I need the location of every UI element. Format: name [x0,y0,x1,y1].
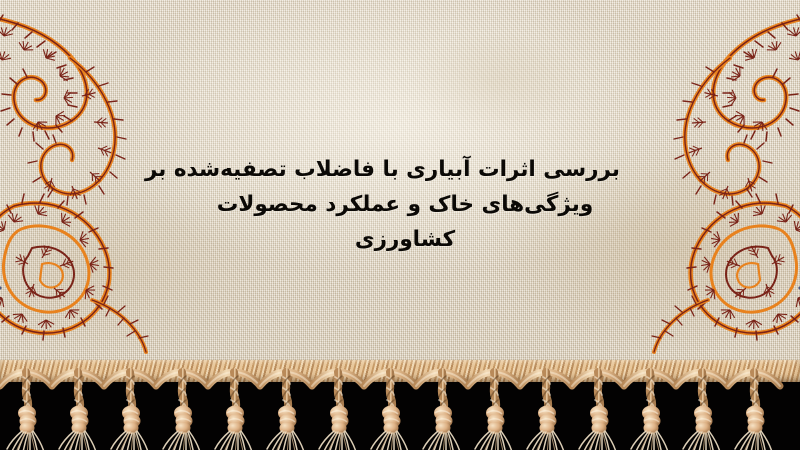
knotted-tassel-fringe [0,368,800,450]
slide-title: بررسی اثرات آبیاری با فاضلاب تصفیه‌شده ب… [190,152,620,257]
title-slide: بررسی اثرات آبیاری با فاضلاب تصفیه‌شده ب… [0,0,800,450]
title-line-2: ویژگی‌های خاک و عملکرد محصولات [190,187,620,222]
title-line-3: کشاورزی [190,222,620,257]
title-line-1: بررسی اثرات آبیاری با فاضلاب تصفیه‌شده ب… [190,152,620,187]
